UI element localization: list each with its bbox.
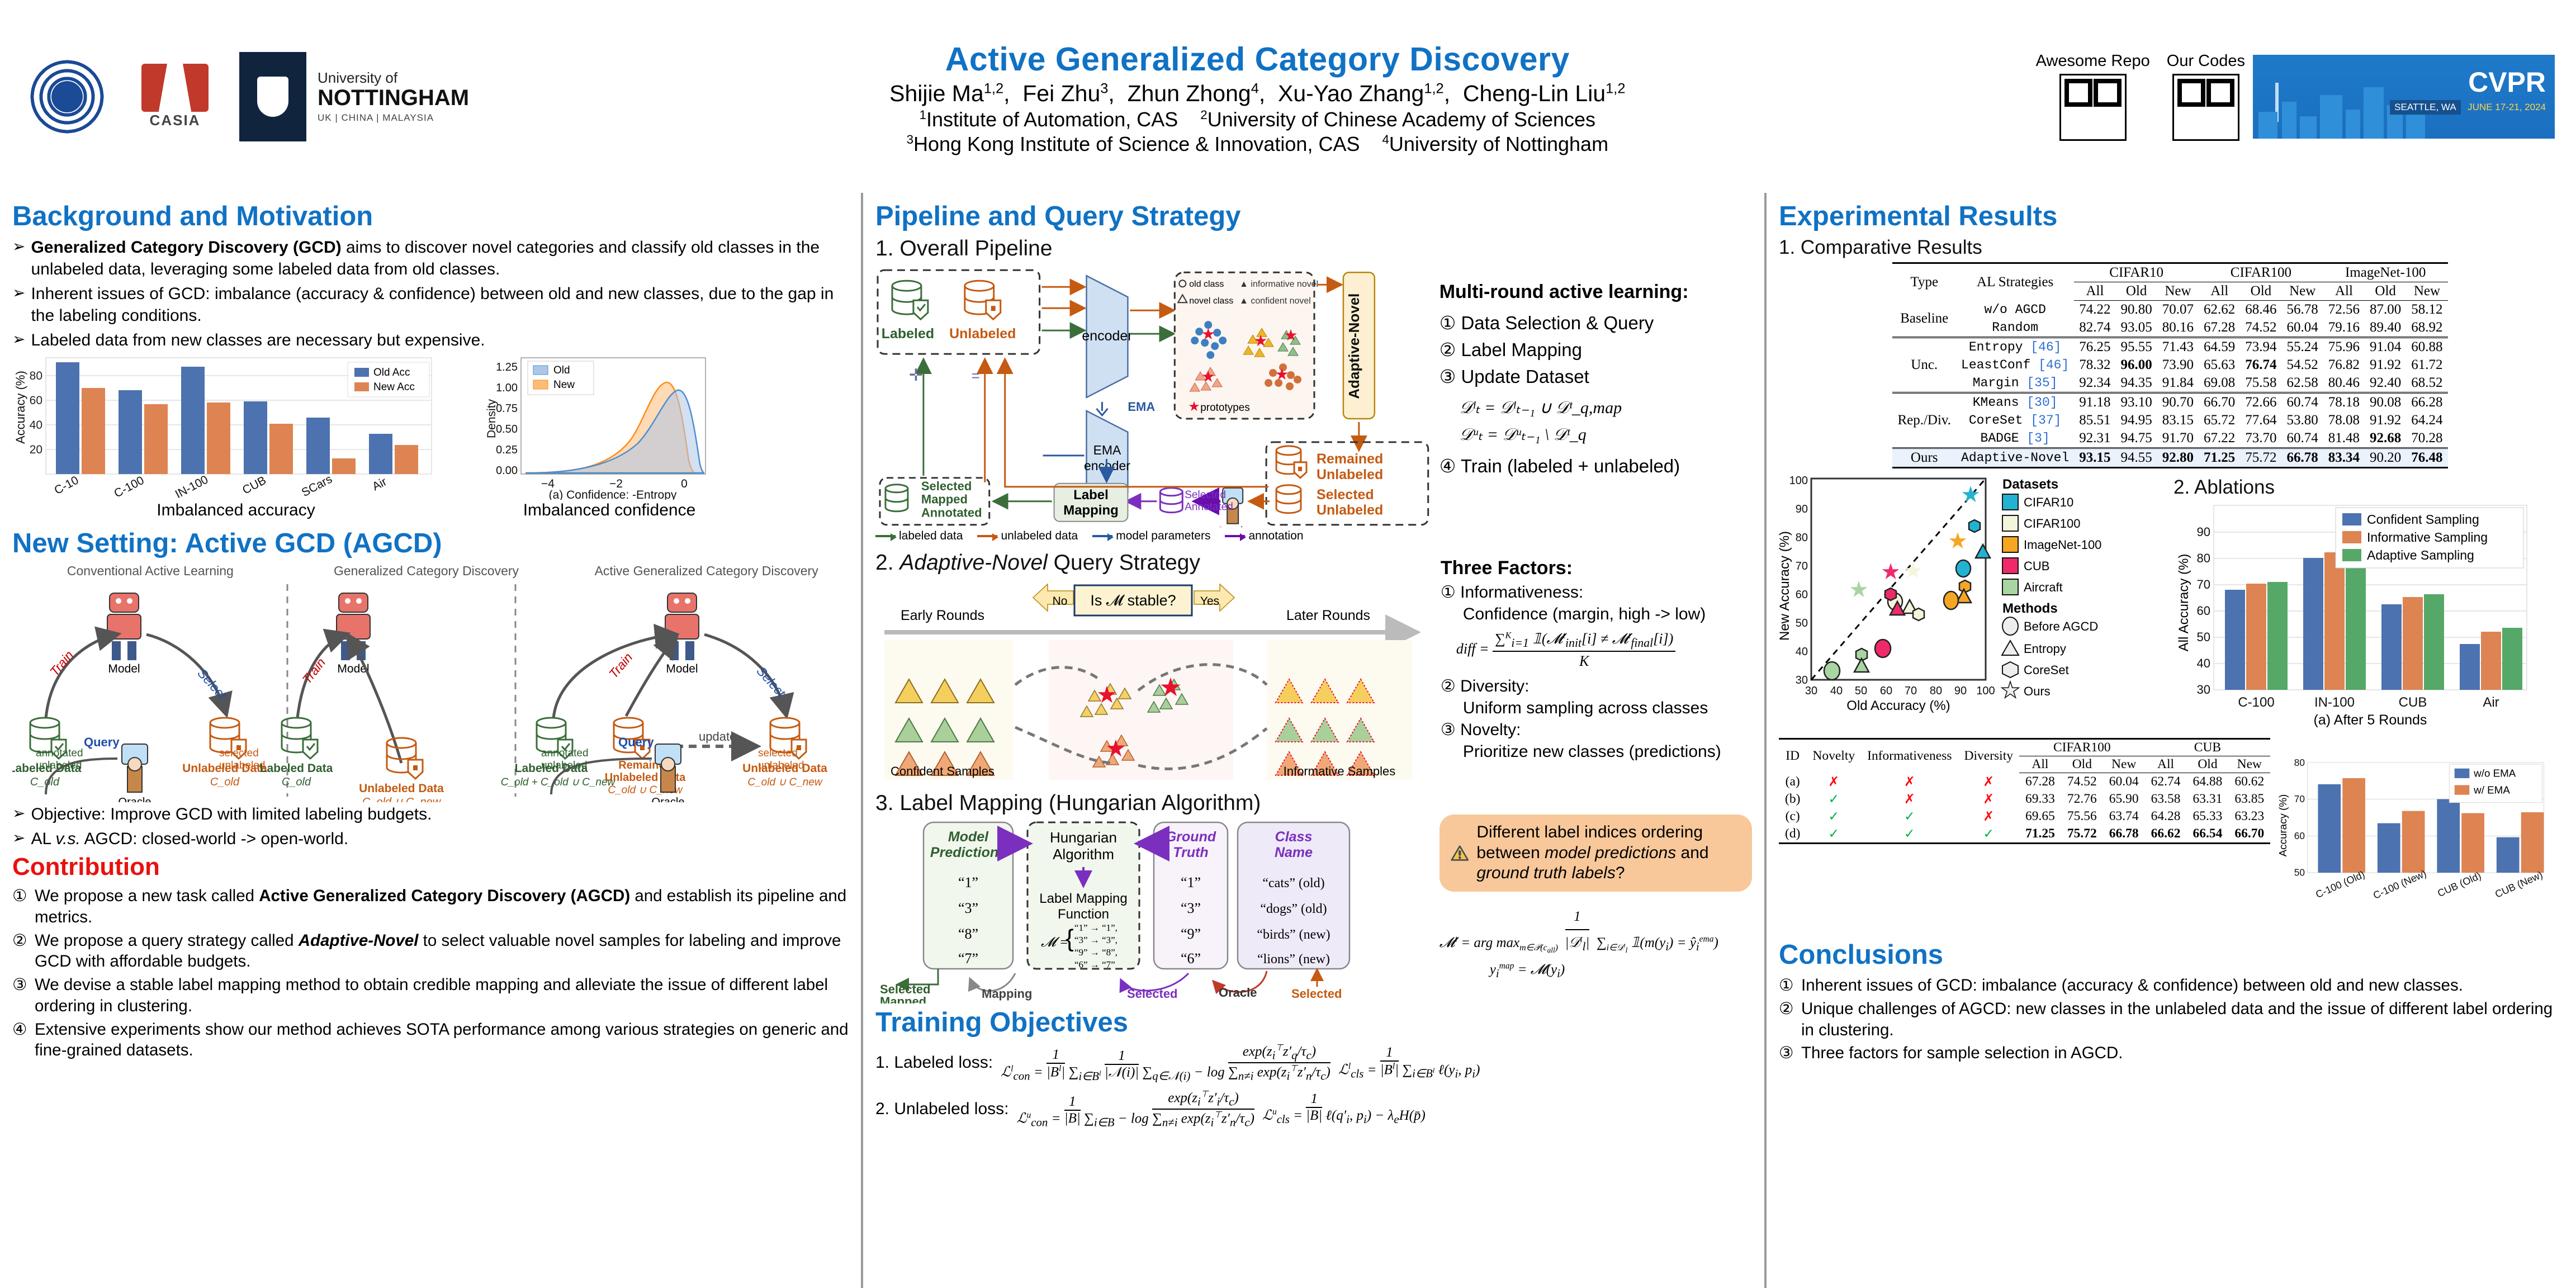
cell-value: 69.65 <box>2019 808 2061 825</box>
cas-seal-logo <box>28 58 106 136</box>
cell-strategy: LeastConf [46] <box>1956 356 2074 374</box>
cell-strategy: BADGE [3] <box>1956 429 2074 448</box>
cell-value: 66.78 <box>2282 448 2323 468</box>
legend-model-parameters: model parameters <box>1092 529 1210 543</box>
svg-text:20: 20 <box>30 443 42 456</box>
panel-title-agcd: Active Generalized Category Discovery <box>564 563 849 579</box>
table-row: (c) ✓✓✗ 69.65 75.56 63.74 64.28 65.33 63… <box>1779 808 2270 825</box>
cell-value: 64.24 <box>2406 411 2447 429</box>
cell-value: 70.28 <box>2406 429 2447 448</box>
nottingham-line2: NOTTINGHAM <box>318 87 469 109</box>
svg-text:𝓜 =: 𝓜 = <box>1041 935 1068 950</box>
header-all: All <box>2199 282 2240 301</box>
equation-ymap: yimap = 𝓜(yi) <box>1490 957 1752 984</box>
svg-text:Select: Select <box>754 664 789 700</box>
panel-title-gcd: Generalized Category Discovery <box>288 563 565 579</box>
svg-text:70: 70 <box>1796 560 1808 572</box>
cell-value: 67.22 <box>2199 429 2240 448</box>
column-left: Background and Motivation ➢Generalized C… <box>0 193 861 1288</box>
cell-value: 94.55 <box>2116 448 2157 468</box>
svg-text:“3” → “3”,: “3” → “3”, <box>1074 935 1117 945</box>
background-bullets: ➢Generalized Category Discovery (GCD) ai… <box>12 236 849 351</box>
svg-text:1.00: 1.00 <box>496 382 518 394</box>
svg-text:Adaptive-Novel: Adaptive-Novel <box>1346 293 1362 399</box>
warning-triangle-icon <box>1451 834 1469 873</box>
cell-value: 66.70 <box>2228 825 2270 844</box>
cell-value: 60.04 <box>2282 319 2323 338</box>
list-item: ②We propose a query strategy called Adap… <box>12 930 849 973</box>
multiround-panel: Multi-round active learning: ① Data Sele… <box>1439 264 1752 527</box>
bullet-text: Labeled data from new classes are necess… <box>31 329 849 351</box>
cell-value: 76.74 <box>2240 356 2281 374</box>
cell-type: Rep./Div. <box>1892 393 1956 448</box>
cell-value: 72.66 <box>2240 393 2281 412</box>
labeled-con-equation: ℒlcon = 1|Bl| ∑i∈Bl 1|𝒩(i)| ∑q∈𝒩(i) − lo… <box>1001 1043 1330 1083</box>
svg-text:Informative Sampling: Informative Sampling <box>2367 530 2488 544</box>
cell-value: 94.95 <box>2116 411 2157 429</box>
qr-awesome-repo[interactable]: Awesome Repo <box>2036 52 2150 141</box>
cell-value: 90.70 <box>2157 393 2199 412</box>
cell-value: 83.15 <box>2157 411 2199 429</box>
bullet-text: Objective: Improve GCD with limited labe… <box>31 803 849 825</box>
svg-text:Oracle: Oracle <box>652 796 685 802</box>
qr-awesome-repo-icon[interactable] <box>2059 74 2127 141</box>
header-strategy: AL Strategies <box>1956 263 2074 301</box>
svg-text:Early Rounds: Early Rounds <box>901 608 984 623</box>
svg-text:★: ★ <box>1849 577 1869 602</box>
svg-text:0.25: 0.25 <box>496 444 518 456</box>
table-row: (d) ✓ ✓ ✓ 71.25 75.72 66.78 66.62 66.54 … <box>1779 825 2270 844</box>
cell-strategy: Entropy [46] <box>1956 338 2074 357</box>
item-text: We devise a stable label mapping method … <box>35 974 849 1017</box>
cell-value: 74.22 <box>2074 301 2115 319</box>
item-text: We propose a new task called Active Gene… <box>35 885 849 928</box>
svg-text:C_old ∪ C_new: C_old ∪ C_new <box>362 796 442 802</box>
svg-text:CUB (Old): CUB (Old) <box>2436 870 2483 899</box>
svg-text:Train: Train <box>47 648 77 679</box>
svg-text:30: 30 <box>1805 685 1817 697</box>
svg-text:“1” → “1”,: “1” → “1”, <box>1074 922 1117 933</box>
header-old: Old <box>2061 756 2103 773</box>
cell-value: 65.90 <box>2103 790 2145 808</box>
cell-value: 92.34 <box>2074 374 2115 393</box>
qr-our-codes-label: Our Codes <box>2167 52 2245 70</box>
svg-text:100: 100 <box>1789 475 1808 487</box>
cell-flag: ✓ <box>1806 790 1861 808</box>
chart-imbalanced-confidence: 0.000.25 0.500.75 1.001.25 Density −4−20… <box>470 354 749 520</box>
svg-text:Unlabeled Data: Unlabeled Data <box>359 782 444 795</box>
svg-text:★: ★ <box>1881 560 1901 584</box>
cell-value: 71.25 <box>2199 448 2240 468</box>
svg-text:Selected: Selected <box>1185 489 1226 501</box>
cell-value: 54.52 <box>2282 356 2323 374</box>
cell-value: 62.74 <box>2145 773 2187 790</box>
cell-value: 81.48 <box>2323 429 2365 448</box>
cell-flag: ✓ <box>1806 808 1861 825</box>
step-item: ① Data Selection & Query <box>1439 310 1752 337</box>
svg-text:CUB (New): CUB (New) <box>2493 869 2544 900</box>
casia-logo: CASIA <box>133 64 217 129</box>
svg-text:★: ★ <box>1105 735 1126 761</box>
svg-text:selected: selected <box>219 747 259 759</box>
column-middle: Pipeline and Query Strategy 1. Overall P… <box>861 193 1767 1288</box>
cell-strategy: CoreSet [37] <box>1956 411 2074 429</box>
svg-text:90: 90 <box>2197 525 2210 539</box>
cell-flag: ✗ <box>1861 773 1958 790</box>
section-heading-new-setting: New Setting: Active GCD (AGCD) <box>12 528 849 559</box>
svg-text:70: 70 <box>1905 685 1917 697</box>
cell-strategy: Margin [35] <box>1956 374 2074 393</box>
step-item: ② Label Mapping <box>1439 337 1752 363</box>
cell-value: 80.46 <box>2323 374 2365 393</box>
cell-type: Ours <box>1892 448 1956 468</box>
unlabeled-con-equation: ℒucon = 1|B| ∑i∈B − log exp(zi⊤z′i/τc)∑n… <box>1016 1089 1254 1130</box>
svg-text:Entropy: Entropy <box>2024 642 2066 656</box>
svg-text:Old: Old <box>553 364 570 376</box>
factor-item-informativeness: ① Informativeness: <box>1441 581 1752 603</box>
svg-text:80: 80 <box>1796 532 1808 544</box>
cell-value: 91.04 <box>2365 338 2406 357</box>
legend-labeled-data: labeled data <box>875 529 963 543</box>
affiliation-line-2: 3Hong Kong Institute of Science & Innova… <box>479 132 2035 156</box>
cell-value: 75.96 <box>2323 338 2365 357</box>
header-all: All <box>2074 282 2115 301</box>
svg-text:Later Rounds: Later Rounds <box>1286 608 1370 623</box>
svg-text:60: 60 <box>2294 830 2305 841</box>
svg-text:Labeled Data: Labeled Data <box>260 762 333 775</box>
svg-text:Density: Density <box>485 399 498 438</box>
svg-text:C_old: C_old <box>282 776 311 788</box>
header-old: Old <box>2187 756 2229 773</box>
svg-text:90: 90 <box>1954 685 1967 697</box>
svg-text:Select: Select <box>195 666 230 703</box>
svg-text:Label Mapping: Label Mapping <box>1039 891 1127 906</box>
cell-value: 63.58 <box>2145 790 2187 808</box>
qr-our-codes[interactable]: Our Codes <box>2167 52 2245 141</box>
section-heading-contribution: Contribution <box>12 853 849 881</box>
cvpr-date: JUNE 17-21, 2024 <box>2468 102 2546 112</box>
subheading-comparative: 1. Comparative Results <box>1779 236 2561 259</box>
svg-text:annotated: annotated <box>36 747 83 759</box>
header-new: New <box>2282 282 2323 301</box>
svg-text:Name: Name <box>1275 845 1313 860</box>
cell-value: 93.15 <box>2074 448 2115 468</box>
cell-value: 92.68 <box>2365 429 2406 448</box>
table-row: Baseline w/o AGCD 74.22 90.80 70.07 62.6… <box>1892 301 2447 319</box>
svg-text:★: ★ <box>1254 332 1268 349</box>
bullet-text: Inherent issues of GCD: imbalance (accur… <box>31 283 849 326</box>
list-item: ①We propose a new task called Active Gen… <box>12 885 849 928</box>
cell-value: 83.34 <box>2323 448 2365 468</box>
cell-value: 72.76 <box>2061 790 2103 808</box>
header-cub: CUB <box>2145 739 2271 756</box>
svg-text:40: 40 <box>1830 685 1843 697</box>
table-row: BADGE [3] 92.31 94.75 91.70 67.22 73.70 … <box>1892 429 2447 448</box>
svg-text:0.75: 0.75 <box>496 402 518 415</box>
cell-flag: ✓ <box>1861 808 1958 825</box>
svg-text:60: 60 <box>1796 589 1808 601</box>
header-old: Old <box>2365 282 2406 301</box>
item-number: ② <box>12 930 35 973</box>
svg-text:C-100 (Old): C-100 (Old) <box>2314 869 2366 901</box>
svg-text:★: ★ <box>1201 325 1215 343</box>
table-row: Unc. Entropy [46] 76.25 95.55 71.43 64.5… <box>1892 338 2447 357</box>
header-novelty: Novelty <box>1806 739 1861 773</box>
svg-text:“3”: “3” <box>958 900 978 916</box>
multiround-steps: ① Data Selection & Query ② Label Mapping… <box>1439 310 1752 479</box>
svg-text:No: No <box>1053 595 1068 608</box>
header-cifar10: CIFAR10 <box>2074 263 2199 282</box>
cell-flag: ✓ <box>1861 825 1958 844</box>
item-number: ③ <box>12 974 35 1017</box>
qr-code-group: Awesome Repo Our Codes <box>2036 52 2245 141</box>
label-ordering-panel: Different label indices ordering between… <box>1439 789 1752 1003</box>
cell-id: (d) <box>1779 825 1806 844</box>
panel-title-al: Conventional Active Learning <box>12 563 288 579</box>
cell-value: 87.00 <box>2365 301 2406 319</box>
svg-text:Query: Query <box>618 735 654 749</box>
header-new: New <box>2157 282 2199 301</box>
svg-text:Accuracy (%): Accuracy (%) <box>13 371 27 444</box>
item-number: ① <box>12 885 35 928</box>
cell-value: 91.92 <box>2365 356 2406 374</box>
legend-annotation: annotation <box>1225 529 1303 543</box>
equation-M: 𝓜t = arg maxm∈𝒫(call) 1|𝒟tl| ∑i∈𝒟tl 𝟙(m(… <box>1439 904 1752 957</box>
svg-text:IN-100: IN-100 <box>173 473 210 500</box>
cell-value: 73.94 <box>2240 338 2281 357</box>
svg-text:Mapped: Mapped <box>880 995 926 1003</box>
svg-text:“3”: “3” <box>1181 900 1201 916</box>
svg-text:Annotated: Annotated <box>1185 501 1233 513</box>
cell-value: 60.88 <box>2406 338 2447 357</box>
svg-text:CIFAR100: CIFAR100 <box>2024 517 2081 531</box>
svg-text:CIFAR10: CIFAR10 <box>2024 495 2073 509</box>
nottingham-logo: University of NOTTINGHAM UK | CHINA | MA… <box>239 52 479 141</box>
cell-value: 95.55 <box>2116 338 2157 357</box>
svg-text:Label: Label <box>1073 487 1109 503</box>
bullet-item: ➢AL v.s. AGCD: closed-world -> open-worl… <box>12 828 849 850</box>
cell-value: 66.28 <box>2406 393 2447 412</box>
svg-text:C-10: C-10 <box>52 473 80 497</box>
nottingham-crest-icon <box>239 52 306 141</box>
header-type: Type <box>1892 263 1956 301</box>
svg-text:C-100: C-100 <box>2238 695 2274 710</box>
svg-text:Aircraft: Aircraft <box>2024 580 2063 594</box>
svg-text:100: 100 <box>1976 685 1995 697</box>
svg-text:Model: Model <box>948 829 989 845</box>
svg-text:EMA: EMA <box>1093 443 1121 457</box>
svg-text:Air: Air <box>370 475 389 493</box>
svg-text:“9” → “8”,: “9” → “8”, <box>1074 947 1117 958</box>
cell-value: 67.28 <box>2019 773 2061 790</box>
cell-value: 70.07 <box>2157 301 2199 319</box>
factor-detail-informativeness: Confidence (margin, high -> low) <box>1463 603 1752 625</box>
svg-text:★: ★ <box>1188 399 1200 414</box>
contribution-list: ①We propose a new task called Active Gen… <box>12 885 849 1061</box>
svg-text:CUB: CUB <box>240 474 268 497</box>
labeled-cls-equation: ℒlcls = 1|Bl| ∑i∈Bl ℓ(yi, pi) <box>1338 1045 1480 1081</box>
svg-text:★: ★ <box>1961 482 1981 507</box>
qr-our-codes-icon[interactable] <box>2172 74 2239 141</box>
diff-equation: diff = ∑Ki=1 𝟙(𝓜tinit[i] ≠ 𝓜tfinal[i]) K <box>1456 629 1752 671</box>
svg-text:Class: Class <box>1275 829 1313 845</box>
cell-value: 78.08 <box>2323 411 2365 429</box>
qr-awesome-repo-label: Awesome Repo <box>2036 52 2150 70</box>
svg-text:Accuracy (%): Accuracy (%) <box>2277 794 2289 857</box>
subheading-label-mapping: 3. Label Mapping (Hungarian Algorithm) <box>875 791 1434 816</box>
svg-text:50: 50 <box>2197 630 2210 644</box>
list-item: ②Unique challenges of AGCD: new classes … <box>1779 998 2561 1041</box>
svg-text:50: 50 <box>1855 685 1867 697</box>
cell-value: 66.78 <box>2103 825 2145 844</box>
svg-text:Algorithm: Algorithm <box>1053 846 1114 863</box>
cell-value: 53.80 <box>2282 411 2323 429</box>
svg-text:w/o EMA: w/o EMA <box>2473 768 2516 779</box>
svg-text:50: 50 <box>2294 867 2305 878</box>
cell-value: 69.33 <box>2019 790 2061 808</box>
bullet-item: ➢Inherent issues of GCD: imbalance (accu… <box>12 283 849 326</box>
equation-du: 𝒟ᵘₜ = 𝒟ᵘₜ₋₁ \ 𝒟ᵗ_q <box>1460 422 1752 448</box>
agcd-panel-titles: Conventional Active Learning Generalized… <box>12 563 849 579</box>
svg-text:30: 30 <box>2197 683 2210 697</box>
header-informativeness: Informativeness <box>1861 739 1958 773</box>
poster-body: Background and Motivation ➢Generalized C… <box>0 193 2576 1288</box>
cell-flag: ✗ <box>1958 808 2019 825</box>
cell-value: 69.08 <box>2199 374 2240 393</box>
svg-text:“6” → “7”: “6” → “7” <box>1074 959 1115 970</box>
factor-item-novelty: ③ Novelty: <box>1441 719 1752 741</box>
cell-value: 61.72 <box>2406 356 2447 374</box>
svg-text:Before AGCD: Before AGCD <box>2024 619 2098 633</box>
svg-text:IN-100: IN-100 <box>2314 695 2355 710</box>
bullet-text: Generalized Category Discovery (GCD) aim… <box>31 236 849 280</box>
svg-text:(a) Confidence: -Entropy: (a) Confidence: -Entropy <box>549 489 677 500</box>
cell-value: 62.62 <box>2199 301 2240 319</box>
cell-value: 93.05 <box>2116 319 2157 338</box>
factor-detail-diversity: Uniform sampling across classes <box>1463 697 1752 719</box>
svg-text:Is 𝓜 stable?: Is 𝓜 stable? <box>1090 592 1176 609</box>
list-item: ④Extensive experiments show our method a… <box>12 1019 849 1062</box>
cell-value: 92.40 <box>2365 374 2406 393</box>
cell-value: 71.43 <box>2157 338 2199 357</box>
multiround-title: Multi-round active learning: <box>1439 281 1752 303</box>
svg-text:Methods: Methods <box>2002 601 2058 616</box>
cell-value: 78.18 <box>2323 393 2365 412</box>
cell-strategy: KMeans [30] <box>1956 393 2074 412</box>
svg-text:Oracle: Oracle <box>119 796 151 802</box>
section-heading-conclusions: Conclusions <box>1779 939 2561 970</box>
cell-flag: ✗ <box>1806 773 1861 790</box>
table-row: Random 82.74 93.05 80.16 67.28 74.52 60.… <box>1892 319 2447 338</box>
labeled-loss-label: 1. Labeled loss: <box>875 1053 993 1072</box>
svg-text:★: ★ <box>1275 366 1289 383</box>
svg-text:Selected: Selected <box>1127 987 1178 1001</box>
cvpr-banner: CVPR SEATTLE, WA JUNE 17-21, 2024 <box>2253 55 2555 139</box>
svg-text:“8”: “8” <box>958 926 978 942</box>
cell-value: 66.54 <box>2187 825 2229 844</box>
poster-root: CASIA University of NOTTINGHAM UK | CHIN… <box>0 0 2576 1288</box>
svg-text:Selected: Selected <box>1317 487 1374 503</box>
svg-text:w/ EMA: w/ EMA <box>2473 784 2510 795</box>
svg-text:★: ★ <box>1201 368 1215 385</box>
cell-value: 94.75 <box>2116 429 2157 448</box>
svg-text:1.25: 1.25 <box>496 361 518 373</box>
cell-value: 60.74 <box>2282 393 2323 412</box>
svg-text:annotated: annotated <box>541 747 589 759</box>
svg-text:CUB: CUB <box>2024 559 2049 573</box>
factor-item-diversity: ② Diversity: <box>1441 675 1752 697</box>
caption-imbalanced-confidence: Imbalanced confidence <box>470 501 749 520</box>
cell-id: (a) <box>1779 773 1806 790</box>
overall-pipeline-diagram: Labeled Unlabeled encoder EMA encoder EM <box>875 264 1434 527</box>
cell-value: 68.92 <box>2406 319 2447 338</box>
svg-text:✛: ✛ <box>909 366 923 385</box>
subheading-query-strategy: 2. Adaptive-Novel Query Strategy <box>875 551 1437 575</box>
arrow-bullet-icon: ➢ <box>12 329 25 351</box>
svg-text:Truth: Truth <box>1173 845 1208 860</box>
cell-value: 76.48 <box>2406 448 2447 468</box>
svg-text:New: New <box>553 379 575 391</box>
cell-value: 63.74 <box>2103 808 2145 825</box>
svg-text:70: 70 <box>2197 577 2210 591</box>
item-text: Unique challenges of AGCD: new classes i… <box>1801 998 2561 1041</box>
svg-text:Datasets: Datasets <box>2002 477 2058 492</box>
cell-value: 66.62 <box>2145 825 2187 844</box>
table-row: CoreSet [37] 85.51 94.95 83.15 65.72 77.… <box>1892 411 2447 429</box>
svg-text:unlabeled: unlabeled <box>541 760 587 771</box>
header-old: Old <box>2240 282 2281 301</box>
cell-value: 73.70 <box>2240 429 2281 448</box>
svg-text:“1”: “1” <box>958 874 978 891</box>
svg-text:C_old + C_old ∪ C_new: C_old + C_old ∪ C_new <box>501 776 616 788</box>
arrow-bullet-icon: ➢ <box>12 236 25 280</box>
item-number: ④ <box>12 1019 35 1062</box>
casia-logo-text: CASIA <box>133 112 217 129</box>
step-item: ④ Train (labeled + unlabeled) <box>1439 453 1752 480</box>
svg-text:“lions” (new): “lions” (new) <box>1257 952 1330 967</box>
table-row: Rep./Div. KMeans [30] 91.18 93.10 90.70 … <box>1892 393 2447 412</box>
svg-text:=: = <box>972 367 980 384</box>
header-old: Old <box>2116 282 2157 301</box>
svg-text:60: 60 <box>2197 604 2210 618</box>
cell-flag: ✗ <box>1958 790 2019 808</box>
chart-old-vs-new-scatter: 304050 607080 90100 304050 607080 90100 … <box>1779 474 2170 737</box>
cell-value: 90.08 <box>2365 393 2406 412</box>
cell-value: 68.46 <box>2240 301 2281 319</box>
update-equations: 𝒟ˡₜ = 𝒟ˡₜ₋₁ ∪ 𝒟ᵗ_q,map 𝒟ᵘₜ = 𝒟ᵘₜ₋₁ \ 𝒟ᵗ_… <box>1460 395 1752 448</box>
bullet-item: ➢Generalized Category Discovery (GCD) ai… <box>12 236 849 280</box>
three-factors-panel: Three Factors: ① Informativeness: Confid… <box>1441 548 1752 787</box>
cell-value: 56.78 <box>2282 301 2323 319</box>
affiliation-line-1: 1Institute of Automation, CAS 2Universit… <box>479 108 2035 131</box>
svg-text:ImageNet-100: ImageNet-100 <box>2024 538 2101 552</box>
cell-value: 75.72 <box>2240 448 2281 468</box>
cell-value: 62.58 <box>2282 374 2323 393</box>
svg-text:(a) After 5 Rounds: (a) After 5 Rounds <box>2314 712 2427 728</box>
header-new: New <box>2103 756 2145 773</box>
chart-imbalanced-accuracy: 2040 6080 Accuracy (%) <box>12 354 460 520</box>
unlabeled-loss-label: 2. Unlabeled loss: <box>875 1100 1008 1119</box>
svg-text:Old Acc: Old Acc <box>373 367 410 378</box>
warning-callout: Different label indices ordering between… <box>1439 815 1752 892</box>
cell-value: 76.25 <box>2074 338 2115 357</box>
svg-text:Hungarian: Hungarian <box>1050 829 1117 846</box>
cell-id: (c) <box>1779 808 1806 825</box>
cell-value: 74.52 <box>2240 319 2281 338</box>
svg-text:prototypes: prototypes <box>1200 402 1250 414</box>
chart-ablation-sampling: 304050 60708090 All Accuracy (%) C-100IN… <box>2173 502 2548 737</box>
cell-value: 65.72 <box>2199 411 2240 429</box>
